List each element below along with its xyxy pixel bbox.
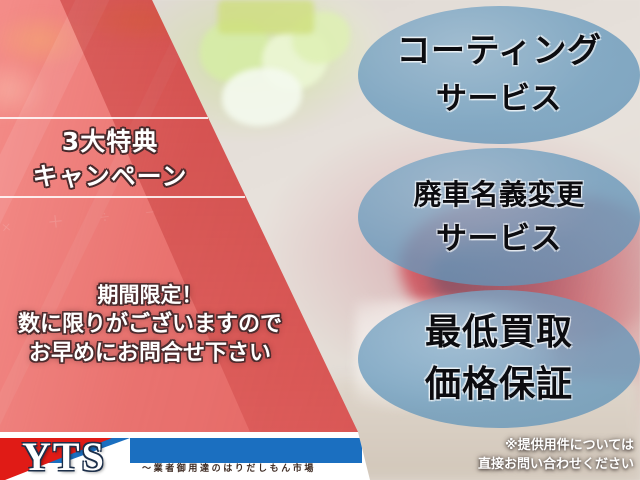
bubble-3-line-1: 最低買取 bbox=[425, 307, 573, 359]
promo-body-copy: 期間限定！ 数に限りがございますので お早めにお問合せ下さい bbox=[0, 281, 300, 368]
disclaimer-line-2: 直接お問い合わせください bbox=[478, 455, 634, 474]
bubble-1-line-2: サービス bbox=[436, 75, 562, 123]
divider-bottom bbox=[0, 196, 245, 198]
promo-headline: 3大特典 キャンペーン bbox=[0, 124, 220, 194]
logo-bar: YTS 〜業者御用達のはりだしもん市場 bbox=[0, 432, 370, 480]
disclaimer-line-1: ※提供用件については bbox=[478, 436, 634, 455]
headline-line-2: キャンペーン bbox=[0, 159, 220, 194]
bubble-1-line-1: コーティング bbox=[397, 27, 602, 75]
service-bubble-coating: コーティング サービス bbox=[358, 6, 640, 144]
logo-wordmark: YTS bbox=[22, 435, 106, 479]
logo-tagline: 〜業者御用達のはりだしもん市場 bbox=[142, 461, 316, 474]
divider-top bbox=[0, 117, 208, 119]
service-bubble-price-guarantee: 最低買取 価格保証 bbox=[358, 290, 640, 428]
service-bubble-scrap-transfer: 廃車名義変更 サービス bbox=[358, 148, 640, 286]
promo-banner: × ＋ ÷ − 3大特典 キャンペーン 期間限定！ 数に限りがございますので お… bbox=[0, 0, 640, 480]
bubble-2-line-2: サービス bbox=[436, 217, 562, 262]
headline-line-1: 3大特典 bbox=[0, 124, 220, 159]
disclaimer-note: ※提供用件については 直接お問い合わせください bbox=[478, 436, 634, 474]
bubble-2-line-1: 廃車名義変更 bbox=[413, 172, 584, 217]
background-stem bbox=[218, 0, 314, 34]
body-line-1: 期間限定！ bbox=[0, 281, 300, 310]
bubble-3-line-2: 価格保証 bbox=[425, 359, 573, 411]
body-line-3: お早めにお問合せ下さい bbox=[0, 339, 300, 368]
body-line-2: 数に限りがございますので bbox=[0, 310, 300, 339]
